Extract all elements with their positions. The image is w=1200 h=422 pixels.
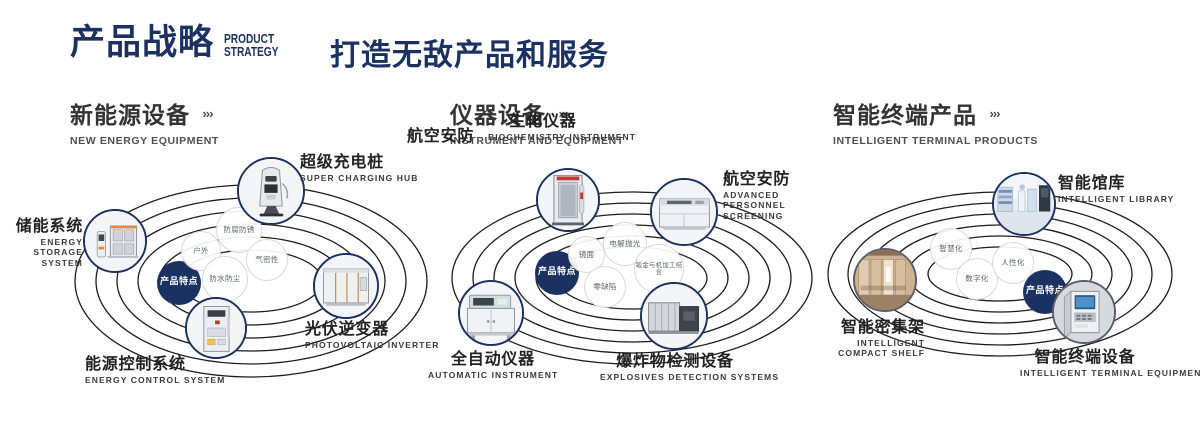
inverter-icon [315, 255, 377, 317]
feature-bubble-label: 人性化 [1001, 259, 1024, 267]
product-label-advanced-personnel-screening: 航空安防 ADVANCED PERSONNEL SCREENING [723, 170, 827, 221]
product-label-en: ENERGY STORAGE SYSTEM [0, 237, 83, 269]
feature-bubble-label: 数字化 [965, 275, 988, 283]
section-title-cn: 智能终端产品 [833, 96, 977, 130]
product-node-automatic-instrument[interactable] [458, 280, 524, 346]
product-label-en: BIOCHEMISTRY INSTRUMENT [488, 132, 598, 143]
product-label-aviation-security-left: 航空安防 [407, 127, 474, 145]
charging-pile-icon [239, 159, 303, 223]
detection-rack-icon [642, 284, 706, 348]
control-cabinet-icon [187, 299, 245, 357]
product-label-cn: 超级充电桩 [300, 153, 419, 171]
product-label-cn: 能源控制系统 [85, 355, 225, 373]
product-label-super-charging-hub: 超级充电桩 SUPER CHARGING HUB [300, 153, 419, 183]
product-label-intelligent-library: 智能馆库 INTELLIGENT LIBRARY [1058, 174, 1174, 204]
cabinet-charger-icon [85, 211, 145, 271]
product-node-intelligent-terminal-equipment[interactable] [1052, 280, 1116, 344]
product-label-energy-control-system: 能源控制系统 ENERGY CONTROL SYSTEM [85, 355, 225, 385]
product-label-cn: 智能终端设备 [1020, 348, 1150, 366]
poster-canvas: 产品战略 PRODUCT STRATEGY 打造无敌产品和服务 新能源设备 ››… [0, 0, 1200, 422]
cluster-instrument: 产品特点 镜面 电解抛光 钣金与机加工结合 零缺陷 [440, 160, 830, 390]
section-title-cn: 新能源设备 [70, 96, 190, 130]
core-bubble-label: 产品特点 [160, 278, 198, 287]
feature-bubble-label: 防腐防锈 [223, 226, 254, 234]
product-label-en: ENERGY CONTROL SYSTEM [85, 375, 225, 386]
product-label-en: PHOTOVOLTAIC INVERTER [305, 340, 440, 351]
product-node-super-charging-hub[interactable] [237, 157, 305, 225]
library-room-icon [994, 174, 1054, 234]
poster-title-cn: 产品战略 [70, 26, 214, 61]
product-label-cn: 智能密集架 [810, 318, 925, 336]
product-label-explosives-detection: 爆炸物检测设备 EXPLOSIVES DETECTION SYSTEMS [600, 352, 750, 382]
feature-bubble-label: 镜面 [579, 251, 595, 259]
product-label-cn: 航空安防 [407, 127, 474, 145]
section-title-en: INTELLIGENT TERMINAL PRODUCTS [833, 135, 1038, 147]
core-bubble-label: 产品特点 [538, 268, 576, 277]
product-label-intelligent-terminal-equipment: 智能终端设备 INTELLIGENT TERMINAL EQUIPMENT [1020, 348, 1150, 378]
section-header-intelligent-terminal: 智能终端产品 ››› INTELLIGENT TERMINAL PRODUCTS [833, 96, 1038, 147]
feature-bubble-label: 智慧化 [939, 245, 962, 253]
feature-bubble-label: 气密性 [255, 256, 278, 264]
feature-bubble-label: 电解抛光 [609, 240, 640, 248]
product-label-cn: 全自动仪器 [428, 350, 558, 368]
product-node-biochemistry-instrument[interactable] [536, 168, 600, 232]
product-node-explosives-detection[interactable] [640, 282, 708, 350]
product-label-cn: 生化仪器 [488, 112, 598, 130]
product-label-automatic-instrument: 全自动仪器 AUTOMATIC INSTRUMENT [428, 350, 558, 380]
product-label-en: ADVANCED PERSONNEL SCREENING [723, 190, 827, 222]
section-header-new-energy: 新能源设备 ››› NEW ENERGY EQUIPMENT [70, 96, 219, 147]
product-label-energy-storage-system: 储能系统 ENERGY STORAGE SYSTEM [0, 217, 83, 268]
product-label-en: INTELLIGENT COMPACT SHELF [810, 338, 925, 359]
product-label-en: INTELLIGENT LIBRARY [1058, 194, 1174, 205]
kiosk-icon [1054, 282, 1114, 342]
feature-bubble-label: 防水防尘 [209, 275, 240, 283]
product-node-energy-storage-system[interactable] [83, 209, 147, 273]
product-label-en: AUTOMATIC INSTRUMENT [428, 370, 558, 381]
product-label-photovoltaic-inverter: 光伏逆变器 PHOTOVOLTAIC INVERTER [305, 320, 440, 350]
feature-bubble-zero-defect: 零缺陷 [584, 266, 626, 308]
compact-shelf-icon [855, 250, 915, 310]
product-label-en: EXPLOSIVES DETECTION SYSTEMS [600, 372, 750, 383]
feature-bubble-label: 钣金与机加工结合 [635, 262, 683, 275]
product-node-energy-control-system[interactable] [185, 297, 247, 359]
product-label-cn: 智能馆库 [1058, 174, 1174, 192]
feature-bubble-waterproof: 防水防尘 [202, 256, 248, 302]
product-label-cn: 储能系统 [0, 217, 83, 235]
feature-bubble-label: 户外 [193, 247, 209, 255]
product-label-cn: 爆炸物检测设备 [600, 352, 750, 370]
product-label-cn: 光伏逆变器 [305, 320, 440, 338]
analyzer-icon [652, 180, 716, 244]
product-label-en: INTELLIGENT TERMINAL EQUIPMENT [1020, 368, 1150, 379]
chevron-right-icon: ››› [202, 106, 212, 121]
poster-title-en: PRODUCT STRATEGY [224, 32, 278, 58]
product-label-intelligent-compact-shelf: 智能密集架 INTELLIGENT COMPACT SHELF [810, 318, 925, 359]
poster-header: 产品战略 PRODUCT STRATEGY [70, 26, 294, 61]
feature-bubble-airtight: 气密性 [246, 239, 288, 281]
auto-instrument-icon [460, 282, 522, 344]
product-node-advanced-personnel-screening[interactable] [650, 178, 718, 246]
cluster-intelligent-terminal: 智慧化 数字化 人性化 产品特点 [820, 170, 1190, 385]
product-label-biochemistry-instrument: 生化仪器 BIOCHEMISTRY INSTRUMENT [488, 112, 598, 142]
feature-bubble-label: 零缺陷 [593, 283, 616, 291]
cluster-new-energy: 产品特点 户外 防腐防锈 防水防尘 气密性 [55, 155, 445, 400]
product-node-intelligent-compact-shelf[interactable] [853, 248, 917, 312]
scanner-gate-icon [538, 170, 598, 230]
product-label-en: SUPER CHARGING HUB [300, 173, 419, 184]
chevron-right-icon: ››› [989, 106, 999, 121]
section-title-en: NEW ENERGY EQUIPMENT [70, 135, 219, 147]
product-node-intelligent-library[interactable] [992, 172, 1056, 236]
poster-title-en-line2: STRATEGY [224, 45, 278, 58]
product-node-photovoltaic-inverter[interactable] [313, 253, 379, 319]
poster-slogan: 打造无敌产品和服务 [330, 30, 609, 74]
product-label-cn: 航空安防 [723, 170, 827, 188]
